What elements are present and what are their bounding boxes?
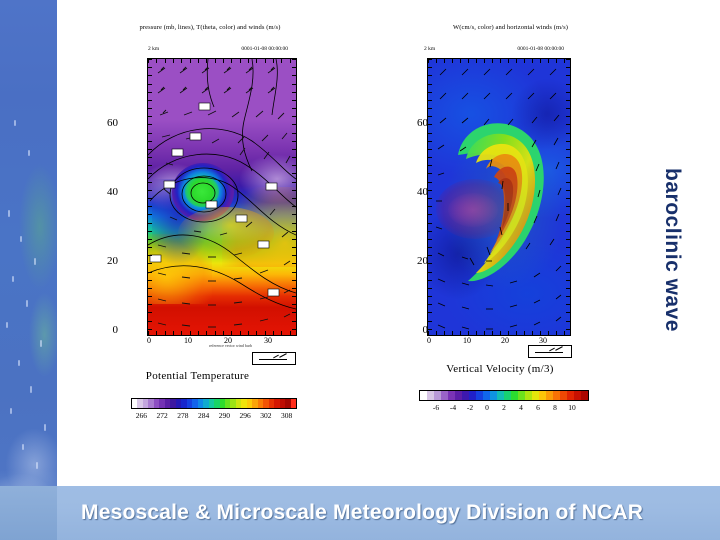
axis-tick: [428, 296, 432, 297]
w-colorbar-ticks: -6-4-20246810: [419, 403, 589, 415]
axis-tick: [556, 59, 557, 63]
left-xtick-0: 0: [140, 336, 158, 345]
axis-tick: [428, 231, 432, 232]
right-panel-subheader: 2 km 0001-01-08 00:00:00: [424, 46, 564, 52]
axis-tick: [566, 280, 570, 281]
axis-tick: [148, 214, 152, 215]
axis-tick: [292, 239, 296, 240]
axis-tick: [524, 331, 525, 335]
axis-tick: [215, 59, 216, 63]
axis-tick: [165, 59, 166, 63]
axis-tick: [148, 149, 152, 150]
axis-tick: [292, 231, 296, 232]
axis-tick: [566, 67, 570, 68]
axis-tick: [281, 59, 282, 63]
axis-tick: [292, 157, 296, 158]
axis-tick: [566, 288, 570, 289]
axis-tick: [281, 331, 282, 335]
axis-tick: [148, 100, 152, 101]
left-figure-panel: pressure (mb, lines), T(theta, color) an…: [110, 24, 310, 31]
axis-tick: [508, 331, 509, 335]
axis-tick: [428, 67, 432, 68]
axis-tick: [566, 239, 570, 240]
axis-tick: [198, 331, 199, 335]
axis-tick: [292, 321, 296, 322]
axis-tick: [428, 75, 432, 76]
axis-tick: [292, 272, 296, 273]
axis-tick: [436, 59, 437, 63]
axis-tick: [428, 198, 432, 199]
axis-tick: [148, 329, 152, 330]
theta-colorbar: 266272278284290296302308: [131, 398, 297, 423]
axis-tick: [148, 206, 152, 207]
axis-tick: [292, 288, 296, 289]
axis-tick: [292, 263, 296, 264]
footer-strip-left: [0, 486, 57, 540]
axis-tick: [240, 331, 241, 335]
colorbar-tick-label: 278: [177, 411, 188, 420]
colorbar-swatch: [469, 391, 476, 400]
decorative-map-strip: [0, 0, 57, 540]
colorbar-tick-label: 272: [157, 411, 168, 420]
axis-tick: [566, 173, 570, 174]
footer-title: Mesoscale & Microscale Meteorology Divis…: [81, 501, 643, 525]
axis-tick: [508, 59, 509, 63]
axis-tick: [428, 263, 432, 264]
colorbar-swatch: [574, 391, 581, 400]
colorbar-swatch: [476, 391, 483, 400]
axis-tick: [292, 67, 296, 68]
axis-tick: [484, 59, 485, 63]
axis-tick: [566, 149, 570, 150]
axis-tick: [148, 198, 152, 199]
axis-tick: [566, 255, 570, 256]
axis-tick: [428, 214, 432, 215]
axis-tick: [566, 124, 570, 125]
colorbar-tick-label: -4: [450, 403, 456, 412]
axis-tick: [223, 331, 224, 335]
axis-tick: [148, 116, 152, 117]
axis-tick: [148, 247, 152, 248]
axis-tick: [273, 59, 274, 63]
left-ytick-0: 0: [94, 324, 118, 336]
axis-tick: [215, 331, 216, 335]
axis-tick: [231, 59, 232, 63]
right-ytick-60: 60: [404, 117, 428, 129]
axis-tick: [566, 141, 570, 142]
axis-tick: [148, 321, 152, 322]
strip-highlight-edge: [57, 0, 65, 500]
axis-tick: [428, 312, 432, 313]
colorbar-swatch: [560, 391, 567, 400]
axis-tick: [540, 331, 541, 335]
axis-tick: [292, 173, 296, 174]
axis-tick: [181, 59, 182, 63]
right-ytick-0: 0: [404, 324, 428, 336]
right-plot-area: [427, 58, 571, 336]
axis-tick: [476, 59, 477, 63]
axis-tick: [292, 59, 296, 60]
colorbar-swatch: [483, 391, 490, 400]
axis-tick: [566, 206, 570, 207]
axis-tick: [566, 198, 570, 199]
axis-tick: [566, 223, 570, 224]
axis-tick: [148, 312, 152, 313]
axis-tick: [428, 84, 432, 85]
colorbar-tick-label: 308: [281, 411, 292, 420]
axis-tick: [256, 331, 257, 335]
horizontal-wind-vectors: [428, 59, 570, 335]
axis-tick: [566, 116, 570, 117]
axis-tick: [428, 141, 432, 142]
axis-tick: [468, 59, 469, 63]
axis-tick: [452, 331, 453, 335]
colorbar-tick-label: 6: [536, 403, 540, 412]
axis-tick: [516, 331, 517, 335]
right-xtick-0: 0: [420, 336, 438, 345]
axis-tick: [556, 331, 557, 335]
colorbar-swatch: [434, 391, 441, 400]
axis-tick: [516, 59, 517, 63]
left-ytick-40: 40: [94, 186, 118, 198]
colorbar-swatch: [532, 391, 539, 400]
axis-tick: [223, 59, 224, 63]
axis-tick: [428, 157, 432, 158]
axis-tick: [428, 59, 432, 60]
colorbar-swatch: [490, 391, 497, 400]
axis-tick: [566, 165, 570, 166]
axis-tick: [292, 116, 296, 117]
colorbar-swatch: [525, 391, 532, 400]
axis-tick: [428, 149, 432, 150]
axis-tick: [248, 59, 249, 63]
axis-tick: [444, 59, 445, 63]
axis-tick: [566, 75, 570, 76]
axis-tick: [290, 59, 291, 63]
axis-tick: [566, 92, 570, 93]
axis-tick: [292, 108, 296, 109]
axis-tick: [156, 331, 157, 335]
axis-tick: [566, 304, 570, 305]
axis-tick: [148, 133, 152, 134]
right-level-label: 2 km: [424, 46, 435, 52]
axis-tick: [148, 173, 152, 174]
axis-tick: [148, 190, 152, 191]
axis-tick: [444, 331, 445, 335]
axis-tick: [231, 331, 232, 335]
axis-tick: [148, 157, 152, 158]
axis-tick: [566, 84, 570, 85]
colorbar-tick-label: -6: [433, 403, 439, 412]
colorbar-swatch: [553, 391, 560, 400]
colorbar-swatch: [511, 391, 518, 400]
axis-tick: [566, 190, 570, 191]
axis-tick: [148, 141, 152, 142]
axis-tick: [540, 59, 541, 63]
axis-tick: [292, 312, 296, 313]
axis-tick: [148, 124, 152, 125]
axis-tick: [548, 59, 549, 63]
axis-tick: [292, 280, 296, 281]
slide-root: pressure (mb, lines), T(theta, color) an…: [0, 0, 720, 540]
axis-tick: [265, 59, 266, 63]
axis-tick: [564, 59, 565, 63]
axis-tick: [500, 59, 501, 63]
axis-tick: [484, 331, 485, 335]
axis-tick: [148, 255, 152, 256]
axis-tick: [292, 141, 296, 142]
axis-tick: [273, 331, 274, 335]
axis-tick: [566, 157, 570, 158]
wind-barbs: [148, 59, 296, 335]
axis-tick: [148, 165, 152, 166]
w-colorbar-strip: [419, 390, 589, 401]
axis-tick: [428, 190, 432, 191]
footer-banner: Mesoscale & Microscale Meteorology Divis…: [57, 486, 720, 540]
axis-tick: [148, 263, 152, 264]
vertical-velocity-colorbar: -6-4-20246810: [419, 390, 589, 415]
left-ytick-60: 60: [94, 117, 118, 129]
axis-tick: [492, 331, 493, 335]
axis-tick: [428, 321, 432, 322]
colorbar-swatch: [441, 391, 448, 400]
theta-colorbar-strip: [131, 398, 297, 409]
axis-tick: [428, 223, 432, 224]
axis-tick: [148, 84, 152, 85]
colorbar-tick-label: 8: [553, 403, 557, 412]
axis-tick: [566, 59, 570, 60]
axis-tick: [566, 321, 570, 322]
right-xtick-10: 10: [458, 336, 476, 345]
axis-tick: [566, 100, 570, 101]
axis-tick: [265, 331, 266, 335]
axis-tick: [292, 223, 296, 224]
axis-tick: [148, 288, 152, 289]
axis-tick: [292, 247, 296, 248]
right-figure-panel: W(cm/s, color) and horizontal winds (m/s…: [398, 24, 623, 31]
axis-tick: [428, 92, 432, 93]
right-timestamp: 0001-01-08 00:00:00: [517, 46, 564, 52]
axis-tick: [566, 272, 570, 273]
axis-tick: [198, 59, 199, 63]
axis-tick: [566, 182, 570, 183]
axis-tick: [428, 182, 432, 183]
axis-tick: [206, 331, 207, 335]
axis-tick: [428, 331, 429, 335]
axis-tick: [436, 331, 437, 335]
axis-tick: [240, 59, 241, 63]
colorbar-tick-label: 266: [136, 411, 147, 420]
axis-tick: [181, 331, 182, 335]
axis-tick: [292, 165, 296, 166]
axis-tick: [173, 331, 174, 335]
colorbar-swatch: [546, 391, 553, 400]
colorbar-swatch: [581, 391, 588, 400]
colorbar-swatch: [539, 391, 546, 400]
axis-tick: [428, 124, 432, 125]
side-title-text: baroclinic wave: [660, 168, 684, 332]
axis-tick: [532, 59, 533, 63]
axis-tick: [292, 124, 296, 125]
colorbar-tick-label: 302: [260, 411, 271, 420]
axis-tick: [292, 190, 296, 191]
axis-tick: [173, 59, 174, 63]
axis-tick: [492, 59, 493, 63]
axis-tick: [148, 231, 152, 232]
axis-tick: [248, 331, 249, 335]
axis-tick: [292, 329, 296, 330]
colorbar-tick-label: 4: [519, 403, 523, 412]
colorbar-swatch: [427, 391, 434, 400]
axis-tick: [428, 165, 432, 166]
axis-tick: [428, 329, 432, 330]
colorbar-tick-label: 284: [198, 411, 209, 420]
colorbar-swatch: [497, 391, 504, 400]
left-timestamp: 0001-01-08 00:00:00: [241, 46, 288, 52]
colorbar-swatch: [504, 391, 511, 400]
left-reference-barb-box: [252, 352, 296, 365]
axis-tick: [292, 198, 296, 199]
colorbar-tick-label: -2: [467, 403, 473, 412]
right-ytick-40: 40: [404, 186, 428, 198]
axis-tick: [148, 59, 152, 60]
left-panel-subheader: 2 km 0001-01-08 00:00:00: [148, 46, 288, 52]
axis-tick: [292, 133, 296, 134]
axis-tick: [292, 84, 296, 85]
axis-tick: [428, 304, 432, 305]
axis-tick: [190, 59, 191, 63]
right-xtick-20: 20: [496, 336, 514, 345]
colorbar-tick-label: 2: [502, 403, 506, 412]
axis-tick: [566, 296, 570, 297]
axis-tick: [428, 116, 432, 117]
axis-tick: [460, 59, 461, 63]
right-xtick-30: 30: [534, 336, 552, 345]
axis-tick: [156, 59, 157, 63]
axis-tick: [452, 59, 453, 63]
axis-tick: [476, 331, 477, 335]
axis-tick: [148, 296, 152, 297]
axis-tick: [165, 331, 166, 335]
axis-tick: [566, 108, 570, 109]
left-level-label: 2 km: [148, 46, 159, 52]
slide-side-title: baroclinic wave: [652, 140, 692, 360]
axis-tick: [548, 331, 549, 335]
axis-tick: [292, 92, 296, 93]
colorbar-swatch: [567, 391, 574, 400]
axis-tick: [428, 288, 432, 289]
axis-tick: [148, 304, 152, 305]
right-reference-vector-box: [528, 345, 572, 358]
axis-tick: [148, 272, 152, 273]
axis-tick: [190, 331, 191, 335]
axis-tick: [566, 263, 570, 264]
axis-tick: [292, 75, 296, 76]
axis-tick: [566, 133, 570, 134]
left-panel-caption: Potential Temperature: [110, 370, 285, 382]
axis-tick: [292, 214, 296, 215]
axis-tick: [428, 255, 432, 256]
axis-tick: [290, 331, 291, 335]
colorbar-tick-label: 296: [240, 411, 251, 420]
axis-tick: [148, 239, 152, 240]
axis-tick: [148, 331, 149, 335]
axis-tick: [524, 59, 525, 63]
axis-tick: [292, 149, 296, 150]
axis-tick: [292, 304, 296, 305]
axis-tick: [256, 59, 257, 63]
axis-tick: [566, 214, 570, 215]
axis-tick: [500, 331, 501, 335]
colorbar-swatch: [291, 399, 296, 408]
axis-tick: [428, 100, 432, 101]
colorbar-swatch: [448, 391, 455, 400]
axis-tick: [292, 206, 296, 207]
colorbar-tick-label: 290: [219, 411, 230, 420]
colorbar-tick-label: 0: [485, 403, 489, 412]
right-ytick-20: 20: [404, 255, 428, 267]
axis-tick: [148, 92, 152, 93]
axis-tick: [206, 59, 207, 63]
axis-tick: [428, 272, 432, 273]
axis-tick: [428, 108, 432, 109]
colorbar-swatch: [420, 391, 427, 400]
colorbar-swatch: [455, 391, 462, 400]
left-panel-title: pressure (mb, lines), T(theta, color) an…: [110, 24, 310, 31]
axis-tick: [428, 133, 432, 134]
axis-tick: [468, 331, 469, 335]
theta-colorbar-ticks: 266272278284290296302308: [131, 411, 297, 423]
axis-tick: [428, 206, 432, 207]
left-plot-area: [147, 58, 297, 336]
left-ytick-20: 20: [94, 255, 118, 267]
left-xtick-10: 10: [179, 336, 197, 345]
axis-tick: [564, 331, 565, 335]
right-panel-title: W(cm/s, color) and horizontal winds (m/s…: [398, 24, 623, 31]
axis-tick: [532, 331, 533, 335]
axis-tick: [148, 67, 152, 68]
axis-tick: [148, 223, 152, 224]
axis-tick: [566, 247, 570, 248]
axis-tick: [148, 75, 152, 76]
axis-tick: [428, 280, 432, 281]
axis-tick: [566, 231, 570, 232]
axis-tick: [148, 108, 152, 109]
axis-tick: [428, 239, 432, 240]
axis-tick: [148, 182, 152, 183]
axis-tick: [566, 312, 570, 313]
colorbar-swatch: [518, 391, 525, 400]
left-reference-note: reference vector wind barb: [209, 343, 295, 350]
axis-tick: [428, 247, 432, 248]
colorbar-swatch: [462, 391, 469, 400]
axis-tick: [292, 296, 296, 297]
axis-tick: [292, 255, 296, 256]
axis-tick: [566, 329, 570, 330]
axis-tick: [460, 331, 461, 335]
axis-tick: [428, 173, 432, 174]
colorbar-tick-label: 10: [568, 403, 576, 412]
axis-tick: [292, 100, 296, 101]
axis-tick: [292, 182, 296, 183]
axis-tick: [148, 280, 152, 281]
right-panel-caption: Vertical Velocity (m/3): [400, 363, 600, 375]
